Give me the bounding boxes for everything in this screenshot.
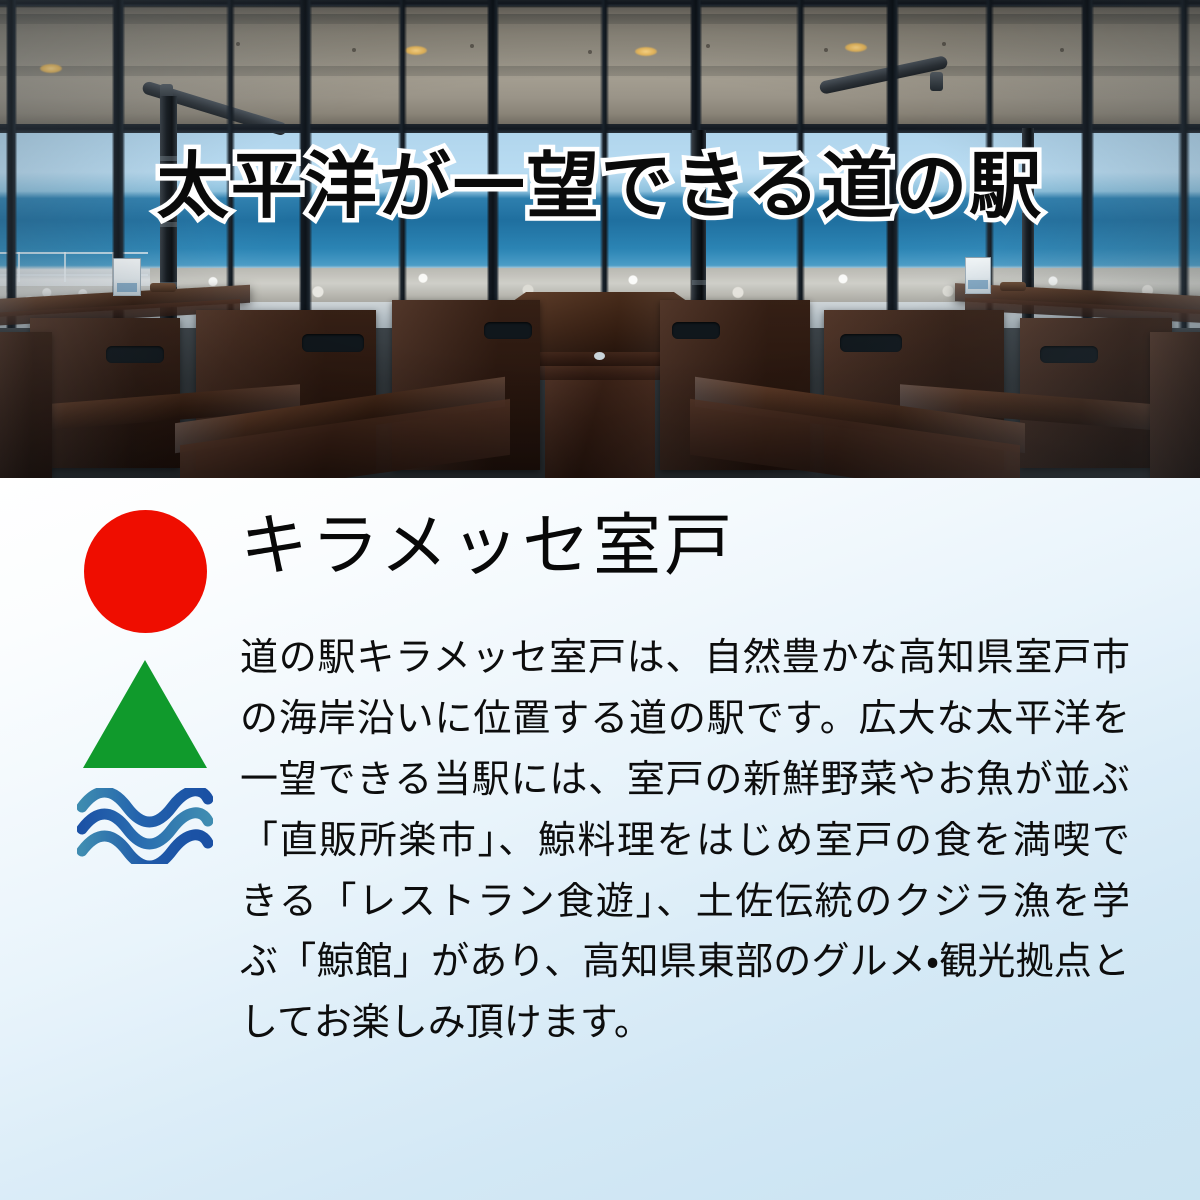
mountain-icon [83,660,207,768]
brand-title: キラメッセ室戸 [240,510,1130,583]
duct-joint [930,72,943,91]
ceiling-bolt-hole [706,44,710,48]
ceiling-bolt-hole [588,50,592,54]
ceiling-bolt-hole [470,44,474,48]
ceiling-bolt-hole [824,48,828,52]
post-band [692,280,706,285]
wave-icon [77,788,213,864]
hero-overlay-title: 太平洋が一望できる道の駅 [0,150,1200,222]
ceiling-spotlight [405,46,427,55]
railing-post [64,252,66,282]
center-table-pedestal [545,366,655,478]
bench-handle-slot [1040,346,1098,363]
page-root: 太平洋が一望できる道の駅 [0,0,1200,1200]
description-text: 道の駅キラメッセ室戸は、自然豊かな高知県室戸市の海岸沿いに位置する道の駅です。広… [240,627,1130,1053]
hero-photo: 太平洋が一望できる道の駅 [0,0,1200,478]
ceiling-bolt-hole [236,42,240,46]
photo-stage [0,0,1200,478]
menu-card-strip [968,280,987,289]
ceiling-bolt-hole [352,48,356,52]
bench-handle-slot [840,334,902,352]
ceiling-bolt-hole [1060,48,1064,52]
info-body: キラメッセ室戸 道の駅キラメッセ室戸は、自然豊かな高知県室戸市の海岸沿いに位置す… [240,510,1130,1053]
icon-stack [74,510,216,864]
ceiling-spotlight [40,64,62,73]
bench-back [1150,332,1200,478]
table-grommet [594,352,605,360]
condiment-tray [1000,282,1026,291]
bench-back [0,332,52,478]
bench-handle-slot [302,334,364,352]
bench-handle-slot [484,322,532,339]
ceiling-spotlight [635,47,657,56]
menu-card-strip [117,283,138,292]
sun-icon [84,510,207,633]
ceiling-spotlight [845,43,867,52]
bench-back [30,318,180,468]
ceiling-bolt-hole [942,42,946,46]
bench-handle-slot [672,322,720,339]
menu-card [113,258,141,296]
menu-card [965,257,991,294]
condiment-tray [150,283,176,292]
railing-post [18,252,20,282]
info-panel: キラメッセ室戸 道の駅キラメッセ室戸は、自然豊かな高知県室戸市の海岸沿いに位置す… [0,478,1200,1200]
bench-handle-slot [106,346,164,363]
